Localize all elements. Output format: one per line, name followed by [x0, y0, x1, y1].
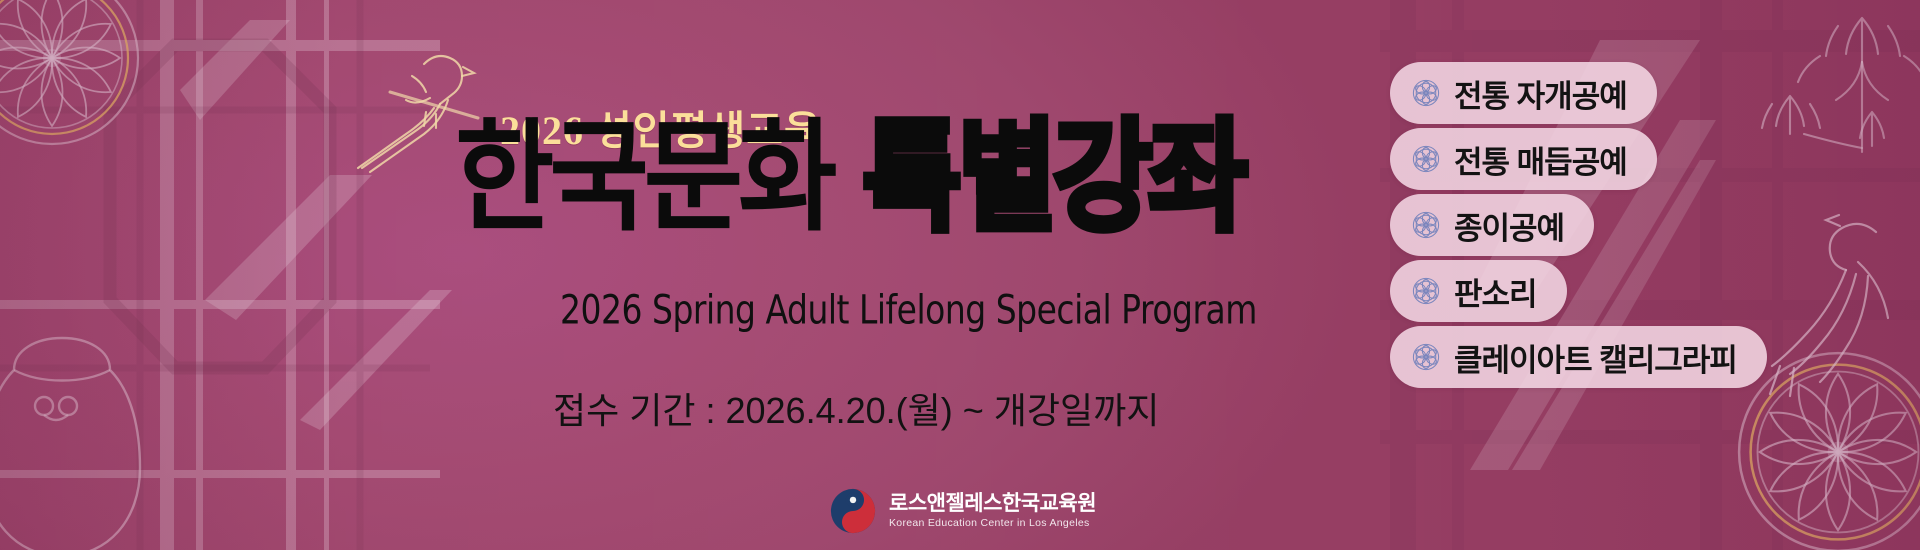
course-label: 클레이아트 캘리그라피 [1454, 335, 1737, 380]
course-pill-traditional-mother-of-pearl[interactable]: 전통 자개공예 [1390, 62, 1657, 124]
registration-period: 접수 기간 : 2026.4.20.(월) ~ 개강일까지 [553, 382, 1159, 434]
course-pill-traditional-knot-craft[interactable]: 전통 매듭공예 [1390, 128, 1657, 190]
taegeuk-logo-icon [830, 488, 876, 534]
course-pill-pansori[interactable]: 판소리 [1390, 260, 1567, 322]
banner-title: 한국문화 특별강좌 [455, 130, 1244, 238]
course-label: 판소리 [1454, 269, 1537, 314]
course-list: 전통 자개공예 전통 매듭공예 [1390, 0, 1920, 550]
course-pill-paper-craft[interactable]: 종이공예 [1390, 194, 1594, 256]
organization-logo: 로스앤젤레스한국교육원 Korean Education Center in L… [830, 488, 1096, 534]
logo-name-korean: 로스앤젤레스한국교육원 [889, 493, 1096, 515]
banner-title-primary: 한국문화 [455, 117, 832, 238]
flower-medallion-icon [1412, 145, 1440, 173]
banner-title-secondary: 특별강좌 [862, 117, 1243, 238]
promotional-banner: 2026 성인평생교육 한국문화 특별강좌 2026 Spring Adult … [0, 0, 1920, 550]
course-label: 전통 자개공예 [1454, 71, 1627, 116]
course-label: 전통 매듭공예 [1454, 137, 1627, 182]
banner-content: 2026 성인평생교육 한국문화 특별강좌 2026 Spring Adult … [0, 0, 1390, 550]
flower-medallion-icon [1412, 211, 1440, 239]
logo-text-block: 로스앤젤레스한국교육원 Korean Education Center in L… [889, 493, 1096, 528]
course-pill-clay-art-calligraphy[interactable]: 클레이아트 캘리그라피 [1390, 326, 1767, 388]
course-label: 종이공예 [1454, 203, 1564, 248]
logo-name-english: Korean Education Center in Los Angeles [889, 518, 1096, 529]
flower-medallion-icon [1412, 277, 1440, 305]
flower-medallion-icon [1412, 343, 1440, 371]
banner-subtitle-english: 2026 Spring Adult Lifelong Special Progr… [560, 287, 1257, 334]
flower-medallion-icon [1412, 79, 1440, 107]
